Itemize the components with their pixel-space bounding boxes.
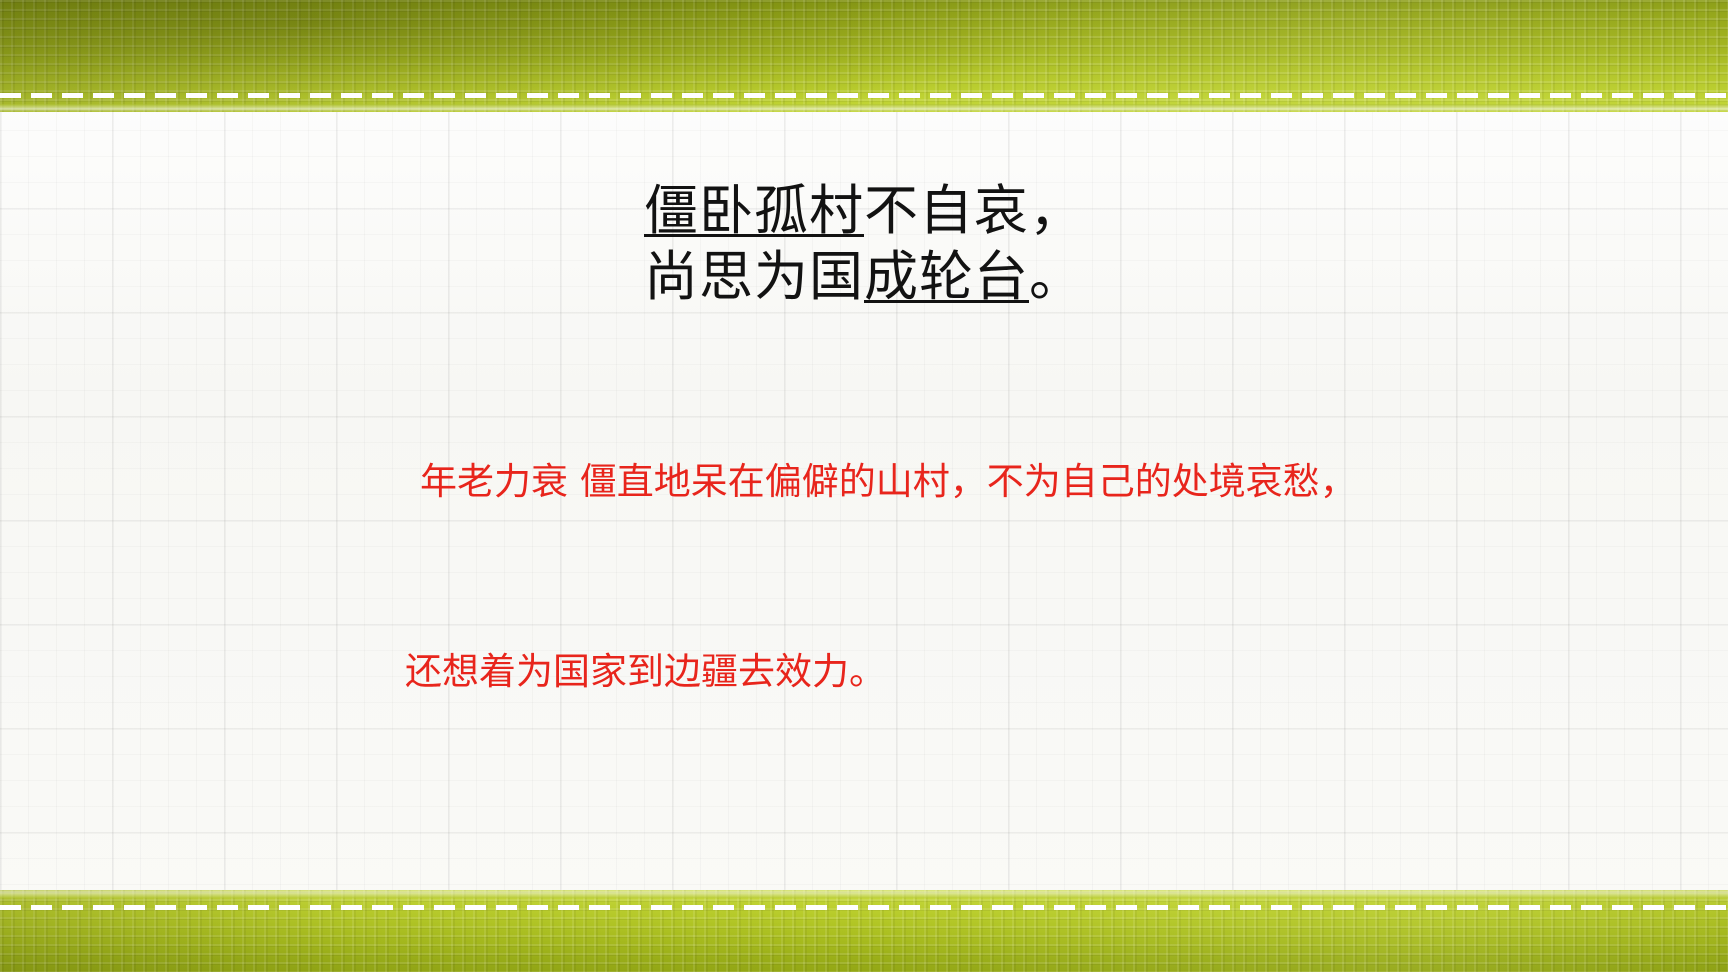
poem-line-1: 僵卧孤村不自哀， [0,178,1728,244]
slide-content: 僵卧孤村不自哀， 尚思为国成轮台。 年老力衰 僵直地呆在偏僻的山村，不为自己的处… [0,0,1728,972]
poem-line-1-underlined: 僵卧孤村 [644,179,864,242]
poem-line-2-plain: 尚思为国 [644,245,864,308]
poem-line-2-tail: 。 [1029,245,1084,308]
slide-canvas: 僵卧孤村不自哀， 尚思为国成轮台。 年老力衰 僵直地呆在偏僻的山村，不为自己的处… [0,0,1728,972]
translation-paragraph-2: 还想着为国家到边疆去效力。 [405,645,1435,699]
translation-paragraph-1: 年老力衰 僵直地呆在偏僻的山村，不为自己的处境哀愁， [404,455,1434,509]
poem-line-2-underlined: 成轮台 [864,245,1029,308]
poem-line-1-plain: 不自哀， [864,179,1084,242]
poem-title: 僵卧孤村不自哀， 尚思为国成轮台。 [0,178,1728,310]
poem-line-2: 尚思为国成轮台。 [0,244,1728,310]
